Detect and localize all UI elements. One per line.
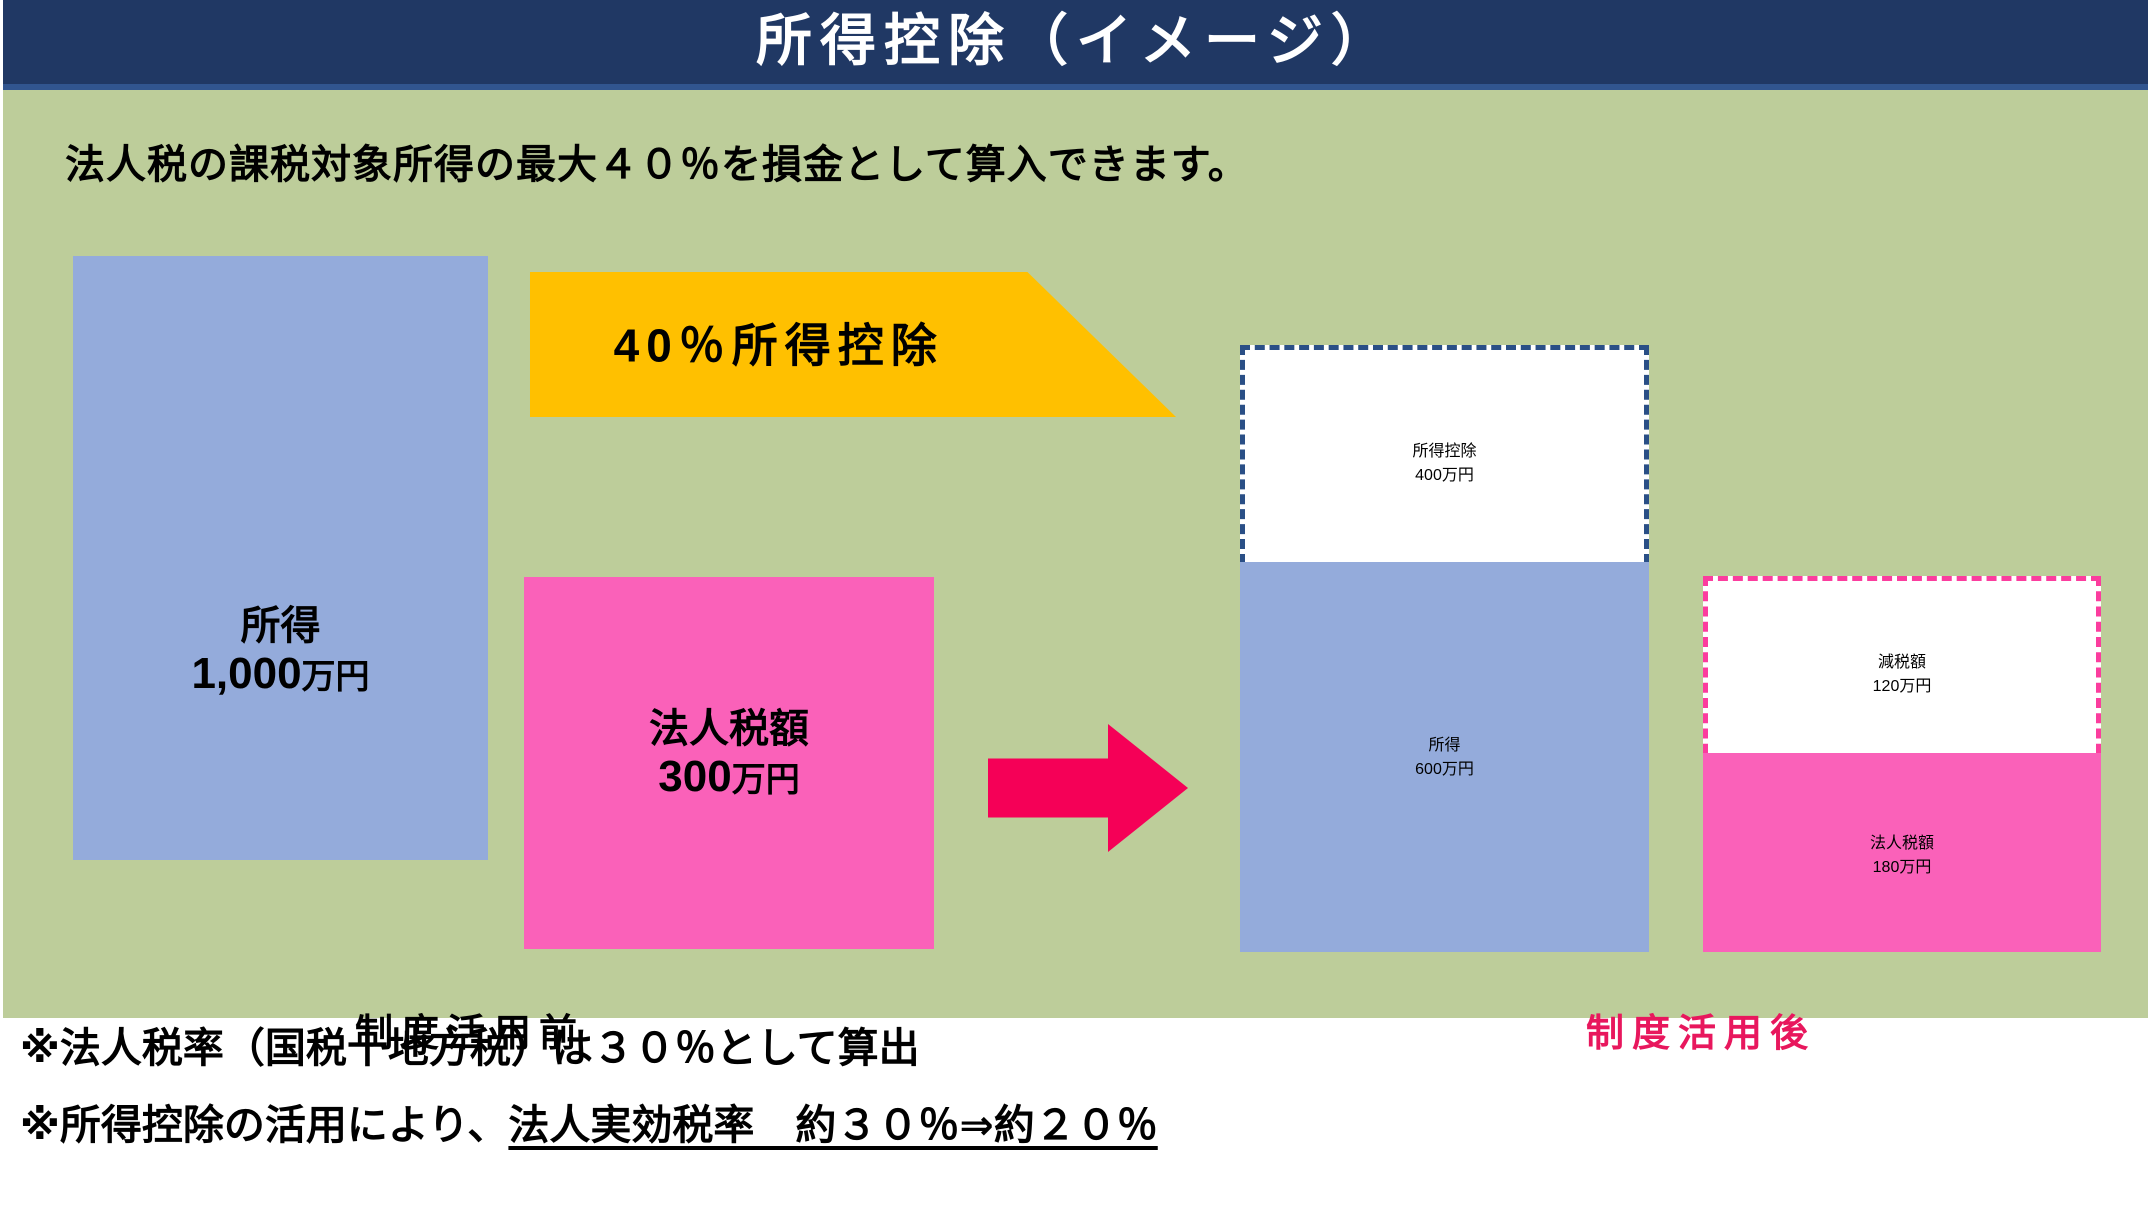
arrow-right-icon	[988, 724, 1188, 852]
title-bar: 所得控除（イメージ）	[3, 0, 2148, 90]
box-deduction-after-label: 所得控除	[1412, 437, 1476, 461]
box-tax-after: 法人税額 180万円	[1703, 753, 2101, 952]
deduction-banner: 40％所得控除	[530, 272, 1176, 417]
bar-income-before: 所得 1,000万円	[73, 256, 488, 860]
box-reduction-label: 減税額	[1878, 648, 1926, 672]
box-income-after-value: 600	[1415, 761, 1442, 778]
box-deduction-after-amount: 400万円	[1415, 461, 1474, 485]
footnotes: ※法人税率（国税十地方税）は３０％として算出 ※所得控除の活用により、法人実効税…	[20, 1028, 2130, 1182]
box-income-after-unit: 万円	[1442, 761, 1474, 778]
box-tax-after-value: 180	[1873, 859, 1900, 876]
box-reduction-unit: 万円	[1899, 678, 1931, 695]
deduction-banner-label: 40％所得控除	[530, 309, 1027, 375]
box-income-after: 所得 600万円	[1240, 562, 1649, 952]
box-tax-after-label: 法人税額	[1870, 829, 1934, 853]
box-reduction-amount: 減税額 120万円	[1708, 581, 2096, 763]
bar-income-before-unit: 万円	[302, 658, 370, 696]
footnote-line-1: ※法人税率（国税十地方税）は３０％として算出	[20, 1028, 2130, 1069]
column-after-tax: 減税額 120万円 法人税額 180万円	[1703, 576, 2101, 952]
box-income-after-amount: 600万円	[1415, 755, 1474, 779]
box-deduction-after: 所得控除 400万円	[1245, 350, 1644, 572]
column-after-income: 所得控除 400万円 所得 600万円	[1240, 345, 1649, 952]
box-tax-after-amount: 180万円	[1873, 853, 1932, 877]
bar-income-before-value: 1,000	[191, 649, 301, 698]
bar-income-before-label: 所得	[241, 604, 321, 649]
bar-tax-before-amount: 300万円	[658, 752, 799, 801]
bar-tax-before: 法人税額 300万円	[524, 577, 934, 949]
footnote-line-2-prefix: ※所得控除の活用により、	[20, 1102, 508, 1148]
bar-income-before-amount: 1,000万円	[191, 649, 369, 698]
bar-tax-before-value: 300	[658, 752, 731, 801]
slide-canvas: 所得控除（イメージ） 法人税の課税対象所得の最大４０％を損金として算入できます。…	[0, 0, 2156, 1232]
box-tax-after-unit: 万円	[1899, 859, 1931, 876]
bar-tax-before-label: 法人税額	[649, 707, 809, 752]
footnote-line-2: ※所得控除の活用により、法人実効税率 約３０％⇒約２０％	[20, 1105, 2130, 1146]
page-title: 所得控除（イメージ）	[3, 13, 2148, 69]
subtitle-text: 法人税の課税対象所得の最大４０％を損金として算入できます。	[65, 132, 1249, 190]
box-income-after-label: 所得	[1428, 731, 1460, 755]
bar-tax-before-unit: 万円	[732, 761, 800, 799]
box-deduction-after-unit: 万円	[1442, 467, 1474, 484]
footnote-line-2-underlined: 法人実効税率 約３０％⇒約２０％	[508, 1102, 1157, 1148]
box-reduction-value-row: 120万円	[1873, 672, 1932, 696]
box-deduction-after-value: 400	[1415, 467, 1442, 484]
box-reduction-value: 120	[1873, 678, 1900, 695]
content-panel: 法人税の課税対象所得の最大４０％を損金として算入できます。 所得 1,000万円…	[3, 90, 2148, 1018]
